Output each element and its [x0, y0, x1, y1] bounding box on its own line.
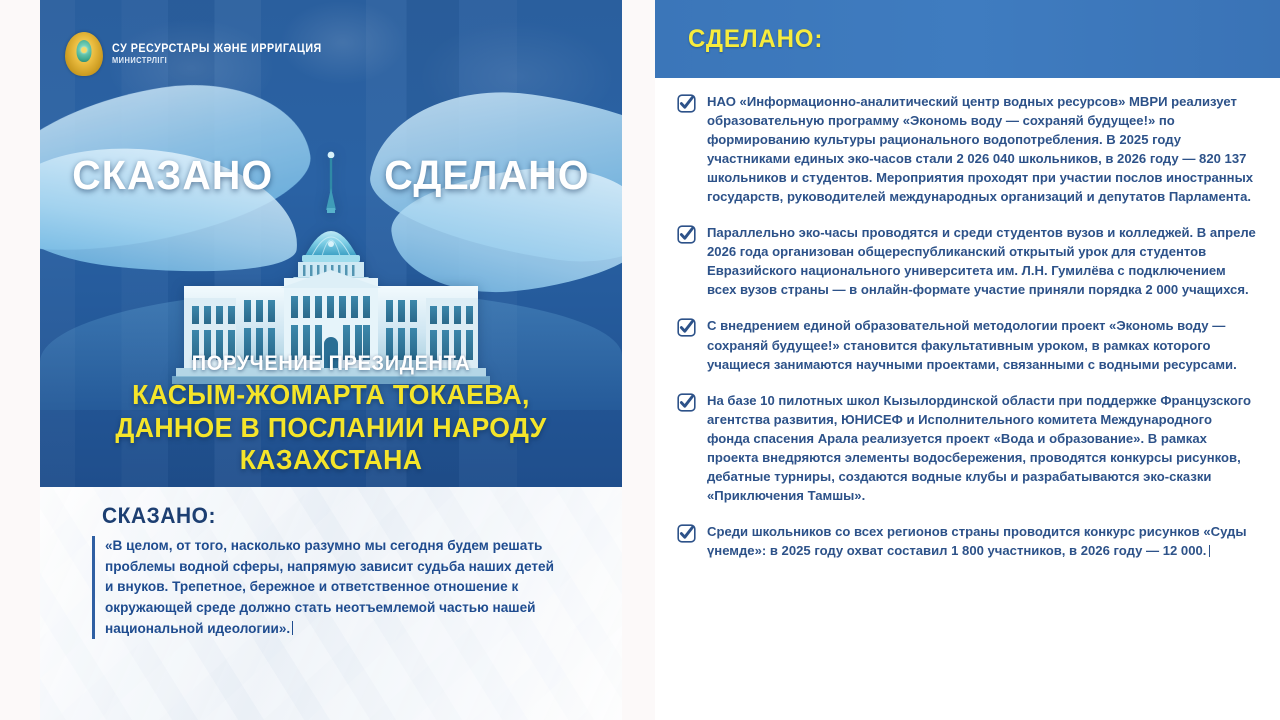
headline-done: СДЕЛАНО: [384, 152, 589, 199]
list-item: С внедрением единой образовательной мето…: [677, 316, 1256, 373]
headline-said: СКАЗАНО: [72, 152, 273, 199]
ministry-name-line1: СУ РЕСУРСТАРЫ ЖӘНЕ ИРРИГАЦИЯ: [112, 43, 322, 55]
checkbox-checked-icon: [677, 94, 696, 113]
text-caret: [292, 621, 293, 635]
checkbox-checked-icon: [677, 393, 696, 412]
poster-page: СУ РЕСУРСТАРЫ ЖӘНЕ ИРРИГАЦИЯ МИНИСТРЛІГІ: [0, 0, 1280, 720]
assignment-subtitle: ДАННОЕ В ПОСЛАНИИ НАРОДУ КАЗАХСТАНА: [64, 412, 598, 476]
quote-content: СКАЗАНО: «В целом, от того, насколько ра…: [102, 503, 602, 639]
list-item-text: Параллельно эко-часы проводятся и среди …: [707, 223, 1256, 299]
left-poster-card: СУ РЕСУРСТАРЫ ЖӘНЕ ИРРИГАЦИЯ МИНИСТРЛІГІ: [40, 0, 622, 720]
done-panel-header: СДЕЛАНО:: [655, 0, 1280, 78]
checkbox-checked-icon: [677, 318, 696, 337]
list-item: Параллельно эко-часы проводятся и среди …: [677, 223, 1256, 299]
list-item-text: С внедрением единой образовательной мето…: [707, 316, 1256, 373]
done-bullet-list: НАО «Информационно-аналитический центр в…: [655, 78, 1280, 560]
ministry-name-line2: МИНИСТРЛІГІ: [112, 57, 322, 65]
quote-heading: СКАЗАНО:: [102, 503, 577, 529]
list-item-text: На базе 10 пилотных школ Кызылординской …: [707, 391, 1256, 505]
list-item-text: Среди школьников со всех регионов страны…: [707, 524, 1247, 558]
list-item: НАО «Информационно-аналитический центр в…: [677, 92, 1256, 206]
hero-banner: СУ РЕСУРСТАРЫ ЖӘНЕ ИРРИГАЦИЯ МИНИСТРЛІГІ: [40, 0, 622, 487]
ministry-logo-text: СУ РЕСУРСТАРЫ ЖӘНЕ ИРРИГАЦИЯ МИНИСТРЛІГІ: [112, 43, 338, 65]
hero-headline: СКАЗАНО СДЕЛАНО: [40, 152, 622, 199]
quote-text: «В целом, от того, насколько разумно мы …: [105, 538, 554, 636]
assignment-president-name: КАСЫМ-ЖОМАРТА ТОКАЕВА,: [64, 379, 598, 411]
quote-section: СКАЗАНО: «В целом, от того, насколько ра…: [40, 487, 622, 720]
list-item: Среди школьников со всех регионов страны…: [677, 522, 1256, 560]
assignment-eyebrow: ПОРУЧЕНИЕ ПРЕЗИДЕНТА: [64, 352, 598, 376]
list-item-text: НАО «Информационно-аналитический центр в…: [707, 92, 1256, 206]
list-item: На базе 10 пилотных школ Кызылординской …: [677, 391, 1256, 505]
text-caret: [1209, 545, 1210, 557]
ministry-logo: СУ РЕСУРСТАРЫ ЖӘНЕ ИРРИГАЦИЯ МИНИСТРЛІГІ: [65, 32, 338, 76]
quote-text-block: «В целом, от того, насколько разумно мы …: [92, 536, 562, 639]
assignment-block: ПОРУЧЕНИЕ ПРЕЗИДЕНТА КАСЫМ-ЖОМАРТА ТОКАЕ…: [40, 352, 622, 476]
list-item-text-block: Среди школьников со всех регионов страны…: [707, 522, 1256, 560]
checkbox-checked-icon: [677, 524, 696, 543]
kazakhstan-emblem-icon: [65, 32, 103, 76]
done-panel: СДЕЛАНО: НАО «Информационно-аналитически…: [655, 0, 1280, 720]
done-panel-title: СДЕЛАНО:: [688, 25, 823, 54]
checkbox-checked-icon: [677, 225, 696, 244]
